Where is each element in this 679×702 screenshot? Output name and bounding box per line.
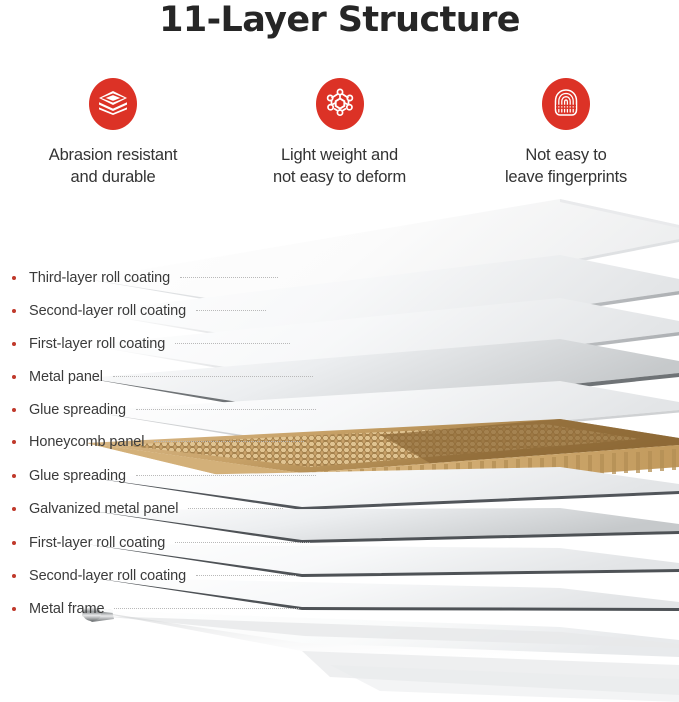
page-title: 11-Layer Structure	[0, 0, 679, 40]
layer-shape-metal-frame	[82, 607, 679, 702]
bullet-icon	[12, 507, 16, 511]
bullet-icon	[12, 408, 16, 412]
leader-line	[175, 542, 310, 544]
feature-caption-2: Light weight and not easy to deform	[273, 144, 406, 188]
leader-line	[180, 277, 278, 279]
leader-line	[175, 343, 290, 345]
layer-label-text: Glue spreading	[29, 402, 126, 418]
bullet-icon	[12, 309, 16, 313]
molecule-network-icon	[326, 87, 354, 122]
leader-line	[114, 608, 299, 610]
layer-label-second-layer-roll-coating[interactable]: Second-layer roll coating	[0, 301, 266, 321]
layer-label-metal-panel[interactable]: Metal panel	[0, 367, 313, 387]
bullet-icon	[12, 574, 16, 578]
bullet-icon	[12, 474, 16, 478]
layer-label-text: Third-layer roll coating	[29, 270, 170, 286]
layer-label-text: Second-layer roll coating	[29, 303, 186, 319]
leader-line	[136, 475, 316, 477]
layer-label-text: Glue spreading	[29, 468, 126, 484]
layer-label-text: Galvanized metal panel	[29, 501, 178, 517]
bullet-icon	[12, 276, 16, 280]
feature-icon-badge-2	[316, 78, 364, 130]
feature-caption-1: Abrasion resistant and durable	[49, 144, 177, 188]
layer-label-second-layer-roll-coating-lower[interactable]: Second-layer roll coating	[0, 566, 296, 586]
layer-label-first-layer-roll-coating-lower[interactable]: First-layer roll coating	[0, 533, 310, 553]
leader-line	[196, 310, 266, 312]
bullet-icon	[12, 541, 16, 545]
feature-icon-badge-1	[89, 78, 137, 130]
bullet-icon	[12, 375, 16, 379]
feature-caption-3: Not easy to leave fingerprints	[505, 144, 627, 188]
layer-label-text: Metal frame	[29, 601, 104, 617]
leader-line	[136, 409, 316, 411]
layer-label-third-layer-roll-coating[interactable]: Third-layer roll coating	[0, 268, 278, 288]
feature-item-lightweight: Light weight and not easy to deform	[227, 78, 453, 188]
leader-line	[196, 575, 296, 577]
layer-label-text: First-layer roll coating	[29, 535, 165, 551]
bullet-icon	[12, 342, 16, 346]
leader-line	[154, 441, 304, 443]
feature-item-fingerprint: Not easy to leave fingerprints	[453, 78, 679, 188]
layer-label-text: First-layer roll coating	[29, 336, 165, 352]
feature-highlights: Abrasion resistant and durable	[0, 78, 679, 188]
layer-label-text: Second-layer roll coating	[29, 568, 186, 584]
leader-line	[113, 376, 313, 378]
layer-label-text: Honeycomb panel	[29, 434, 144, 450]
fingerprint-icon	[553, 86, 579, 123]
feature-icon-badge-3	[542, 78, 590, 130]
layers-stack-icon	[98, 89, 128, 120]
layer-label-metal-frame[interactable]: Metal frame	[0, 599, 299, 619]
layer-label-glue-spreading-bottom[interactable]: Glue spreading	[0, 466, 316, 486]
layer-label-honeycomb-panel[interactable]: Honeycomb panel	[0, 432, 304, 452]
layer-label-first-layer-roll-coating[interactable]: First-layer roll coating	[0, 334, 290, 354]
leader-line	[188, 508, 283, 510]
layer-label-galvanized-metal-panel[interactable]: Galvanized metal panel	[0, 499, 283, 519]
bullet-icon	[12, 607, 16, 611]
layer-label-text: Metal panel	[29, 369, 103, 385]
feature-item-abrasion: Abrasion resistant and durable	[0, 78, 226, 188]
bullet-icon	[12, 440, 16, 444]
layer-label-glue-spreading-top[interactable]: Glue spreading	[0, 400, 316, 420]
